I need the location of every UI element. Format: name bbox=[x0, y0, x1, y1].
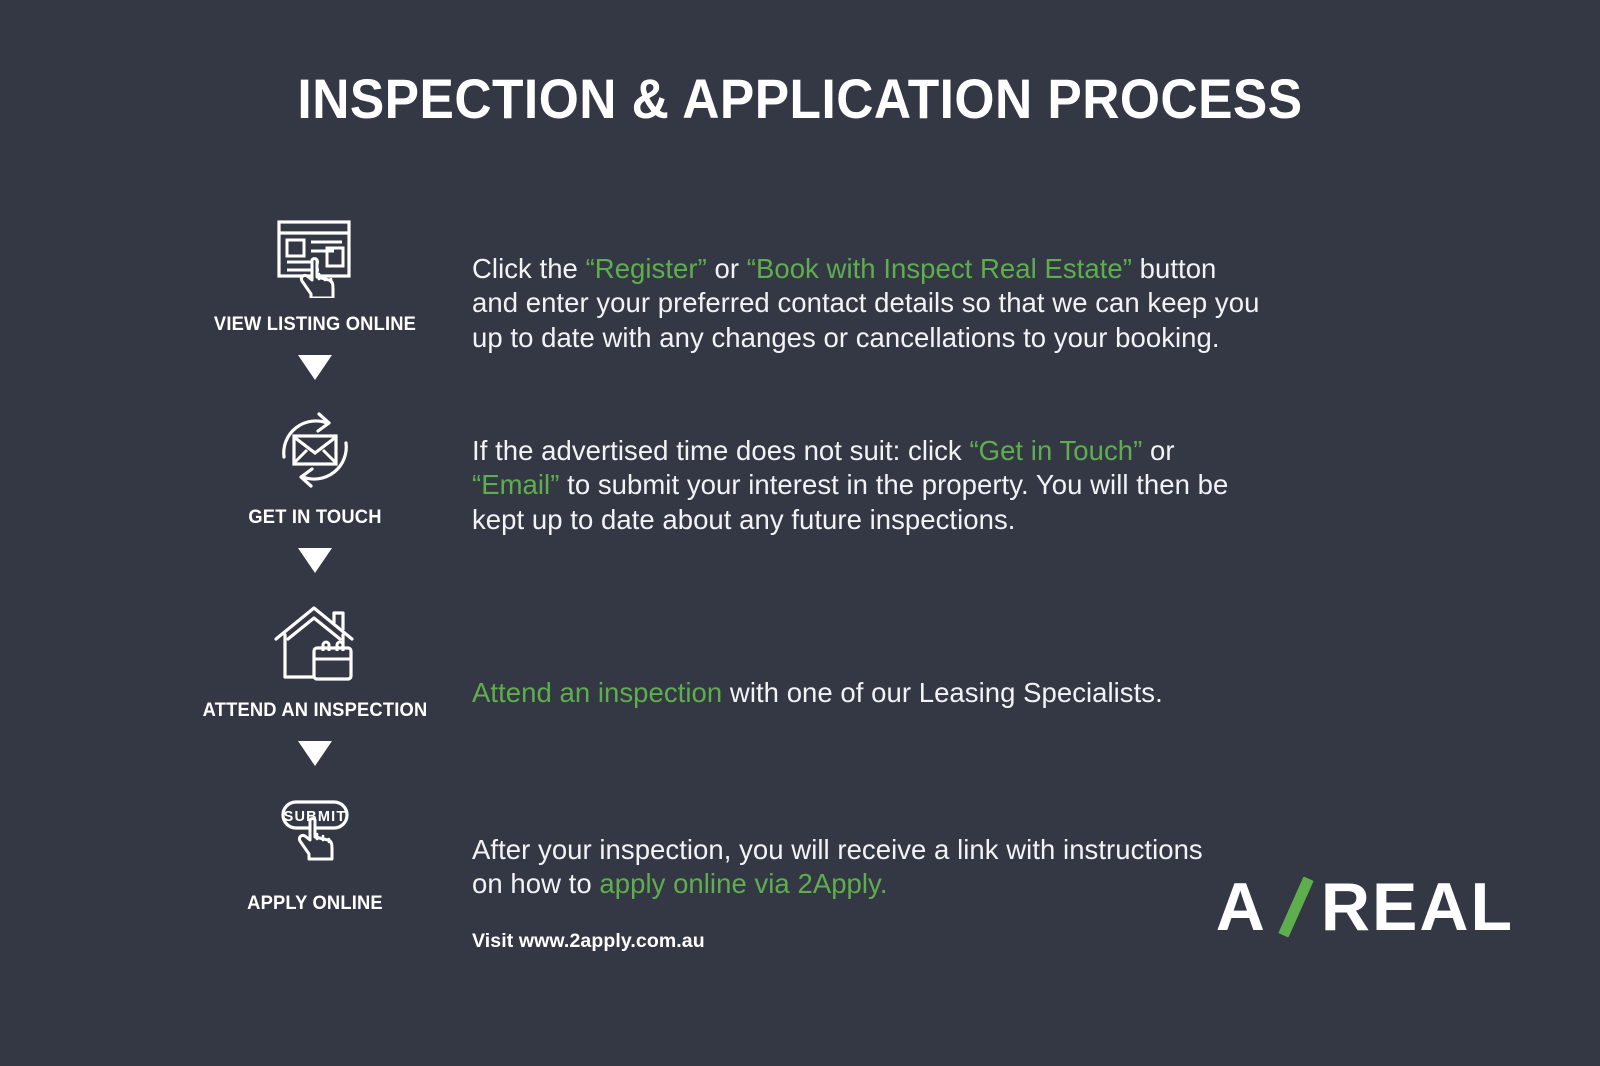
logo-wordmark: A REAL bbox=[1216, 873, 1514, 941]
body-text: with one of our Leasing Specialists. bbox=[722, 677, 1163, 708]
body-text: If the advertised time does not suit: cl… bbox=[472, 435, 969, 466]
step-label: APPLY ONLINE bbox=[179, 892, 452, 915]
step-description-view-listing-online: Click the “Register” or “Book with Inspe… bbox=[472, 252, 1262, 355]
logo-letter-a: A bbox=[1216, 873, 1267, 941]
envelope-refresh-icon bbox=[170, 398, 460, 502]
description-text: After your inspection, you will receive … bbox=[472, 833, 1232, 902]
step-description-get-in-touch: If the advertised time does not suit: cl… bbox=[472, 434, 1262, 537]
flow-arrow-2 bbox=[170, 529, 460, 591]
process-flow-column: VIEW LISTING ONLINE GET IN TOUCH bbox=[170, 205, 460, 915]
highlighted-text: “Get in Touch” bbox=[969, 435, 1142, 466]
step-description-attend-an-inspection: Attend an inspection with one of our Lea… bbox=[472, 676, 1262, 710]
brand-logo: A REAL bbox=[1216, 872, 1514, 942]
highlighted-text: “Register” bbox=[586, 253, 707, 284]
body-text: to submit your interest in the property.… bbox=[472, 469, 1228, 534]
submit-button-cursor-icon: SUBMIT bbox=[170, 784, 460, 888]
step-description-apply-online: After your inspection, you will receive … bbox=[472, 833, 1232, 953]
triangle-down-icon bbox=[298, 548, 332, 573]
listing-page-cursor-icon bbox=[170, 205, 460, 309]
step-label: VIEW LISTING ONLINE bbox=[179, 313, 452, 336]
house-calendar-icon bbox=[170, 591, 460, 695]
step-node-get-in-touch: GET IN TOUCH bbox=[170, 398, 460, 529]
logo-word-real: REAL bbox=[1321, 873, 1514, 941]
flow-arrow-3 bbox=[170, 722, 460, 784]
green-slash-icon bbox=[1273, 876, 1319, 938]
visit-url-note: Visit www.2apply.com.au bbox=[472, 929, 1232, 953]
step-node-attend-an-inspection: ATTEND AN INSPECTION bbox=[170, 591, 460, 722]
body-text: or bbox=[707, 253, 747, 284]
highlighted-text: “Book with Inspect Real Estate” bbox=[747, 253, 1132, 284]
flow-arrow-1 bbox=[170, 336, 460, 398]
step-node-apply-online: SUBMIT APPLY ONLINE bbox=[170, 784, 460, 915]
description-text: Attend an inspection with one of our Lea… bbox=[472, 676, 1262, 710]
highlighted-text: apply online via 2Apply. bbox=[599, 868, 887, 899]
description-text: If the advertised time does not suit: cl… bbox=[472, 434, 1262, 537]
step-node-view-listing-online: VIEW LISTING ONLINE bbox=[170, 205, 460, 336]
page-title: INSPECTION & APPLICATION PROCESS bbox=[64, 66, 1536, 131]
body-text: or bbox=[1142, 435, 1174, 466]
description-text: Click the “Register” or “Book with Inspe… bbox=[472, 252, 1262, 355]
highlighted-text: “Email” bbox=[472, 469, 559, 500]
step-label: GET IN TOUCH bbox=[179, 506, 452, 529]
body-text: Click the bbox=[472, 253, 586, 284]
highlighted-text: Attend an inspection bbox=[472, 677, 722, 708]
step-label: ATTEND AN INSPECTION bbox=[179, 699, 452, 722]
triangle-down-icon bbox=[298, 355, 332, 380]
triangle-down-icon bbox=[298, 741, 332, 766]
